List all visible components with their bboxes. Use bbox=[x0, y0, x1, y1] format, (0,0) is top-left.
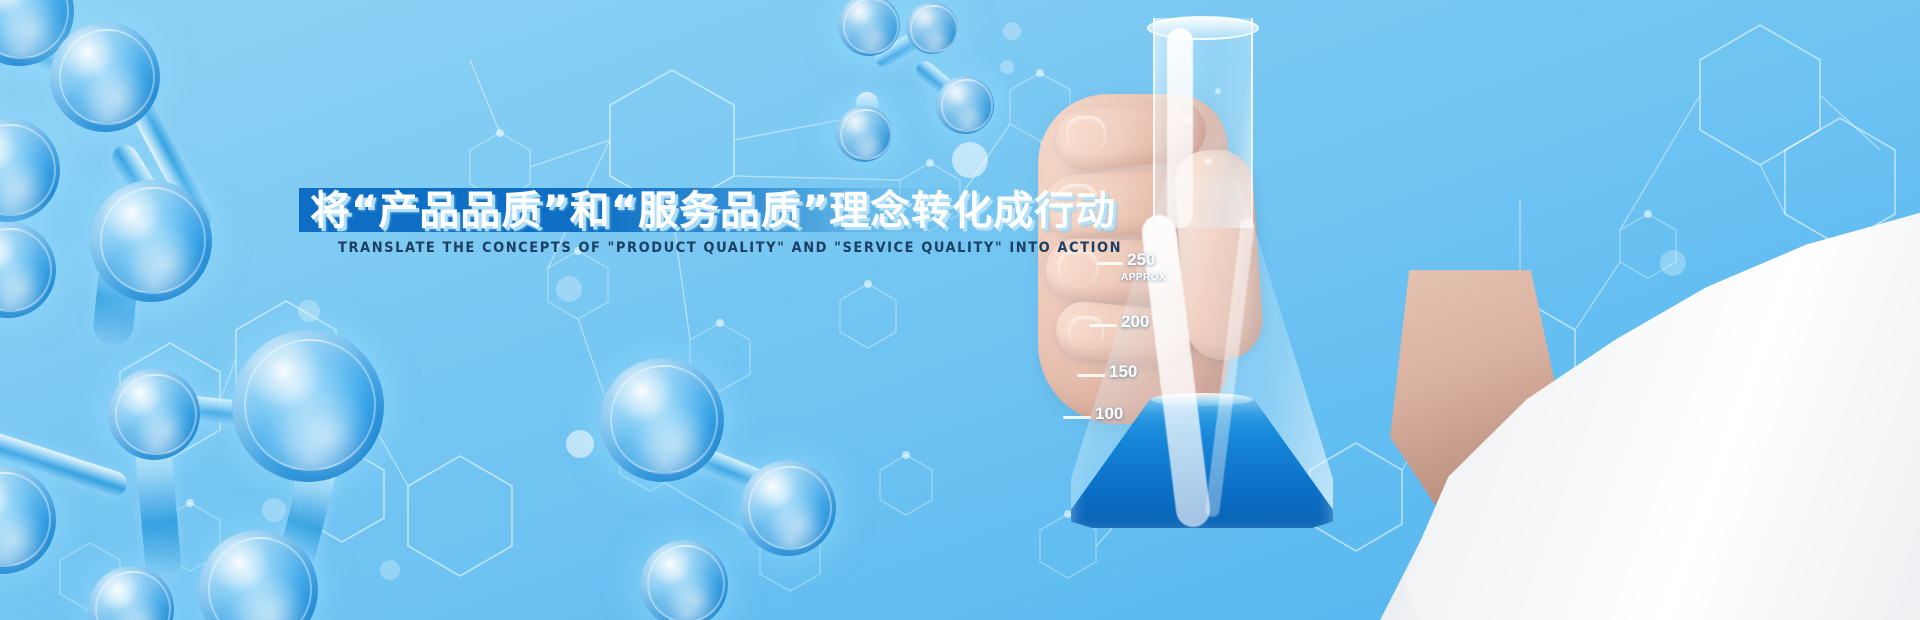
finger-little bbox=[1053, 299, 1198, 369]
molecule-sphere bbox=[0, 0, 74, 66]
water-droplet bbox=[1215, 88, 1221, 94]
molecule-bond bbox=[660, 432, 770, 494]
water-droplet bbox=[1205, 158, 1212, 165]
page-subtitle: TRANSLATE THE CONCEPTS OF "PRODUCT QUALI… bbox=[338, 240, 1122, 256]
erlenmeyer-flask: 250 APPROX 200 150 100 bbox=[1055, 18, 1385, 578]
finger-index bbox=[1053, 96, 1209, 173]
molecule-sphere bbox=[50, 22, 160, 132]
molecule-sphere bbox=[600, 358, 724, 482]
molecule-sphere bbox=[90, 180, 212, 302]
molecule-bond bbox=[107, 140, 193, 256]
flask-highlight bbox=[1140, 213, 1212, 529]
molecule-sphere bbox=[936, 76, 994, 134]
bokeh-dot bbox=[566, 430, 594, 458]
flask-graduation-note: APPROX bbox=[1121, 272, 1166, 283]
molecule-sphere bbox=[640, 540, 728, 620]
fingernail bbox=[1068, 316, 1104, 350]
flask-tick bbox=[1063, 416, 1091, 419]
molecule-sphere bbox=[906, 2, 958, 54]
molecule-sphere bbox=[0, 466, 56, 574]
molecule-bond bbox=[134, 429, 183, 582]
thumb bbox=[1173, 148, 1265, 363]
flask-tick bbox=[1097, 262, 1123, 265]
molecule-bond bbox=[276, 449, 340, 574]
palm bbox=[1038, 94, 1228, 424]
flask-graduation-label: 250 bbox=[1127, 250, 1155, 270]
molecule-sphere bbox=[88, 566, 174, 620]
molecule-sphere bbox=[0, 222, 56, 318]
molecule-bond bbox=[91, 214, 144, 347]
molecule-sphere bbox=[740, 460, 836, 556]
flask-graduation-label: 100 bbox=[1095, 404, 1123, 424]
molecule-bond bbox=[0, 21, 120, 98]
fingernail bbox=[1066, 116, 1106, 154]
molecule-bond bbox=[856, 92, 878, 154]
water-droplet bbox=[1175, 176, 1181, 182]
bokeh-dot bbox=[262, 498, 286, 522]
molecule-sphere bbox=[836, 106, 892, 162]
molecule-sphere bbox=[198, 530, 318, 620]
molecule-bond bbox=[872, 20, 942, 71]
flask-graduation-label: 150 bbox=[1109, 362, 1137, 382]
bokeh-dot bbox=[952, 142, 988, 178]
molecule-sphere bbox=[0, 118, 60, 222]
flask-rim bbox=[1147, 16, 1259, 40]
molecule-bond bbox=[912, 58, 977, 117]
flask-liquid bbox=[1071, 398, 1333, 528]
molecule-bond bbox=[0, 429, 130, 498]
bokeh-dot bbox=[1660, 250, 1686, 276]
flask-tick bbox=[1089, 324, 1117, 327]
bokeh-dot bbox=[298, 300, 320, 322]
water-droplet bbox=[1183, 114, 1192, 123]
flask-neck bbox=[1153, 18, 1253, 228]
flask-highlight bbox=[1205, 218, 1255, 517]
molecule-sphere bbox=[232, 330, 384, 482]
bokeh-dot bbox=[1003, 22, 1021, 40]
flask-liquid-surface bbox=[1151, 393, 1253, 406]
molecule-sphere bbox=[108, 368, 200, 460]
flask-highlight bbox=[1167, 28, 1193, 228]
molecule-sphere bbox=[838, 0, 900, 56]
molecule-bond bbox=[167, 393, 299, 430]
page-title: 将“产品品质”和“服务品质”理念转化成行动 bbox=[310, 190, 1116, 232]
hero-banner: 250 APPROX 200 150 100 将“产品品质”和“服务品质”理念转… bbox=[0, 0, 1920, 620]
bokeh-dot bbox=[556, 276, 582, 302]
flask-graduation-label: 200 bbox=[1121, 312, 1149, 332]
molecule-bond bbox=[124, 90, 216, 234]
bokeh-dot bbox=[1000, 60, 1014, 74]
bokeh-dot bbox=[380, 560, 400, 580]
flask-tick bbox=[1077, 374, 1105, 377]
